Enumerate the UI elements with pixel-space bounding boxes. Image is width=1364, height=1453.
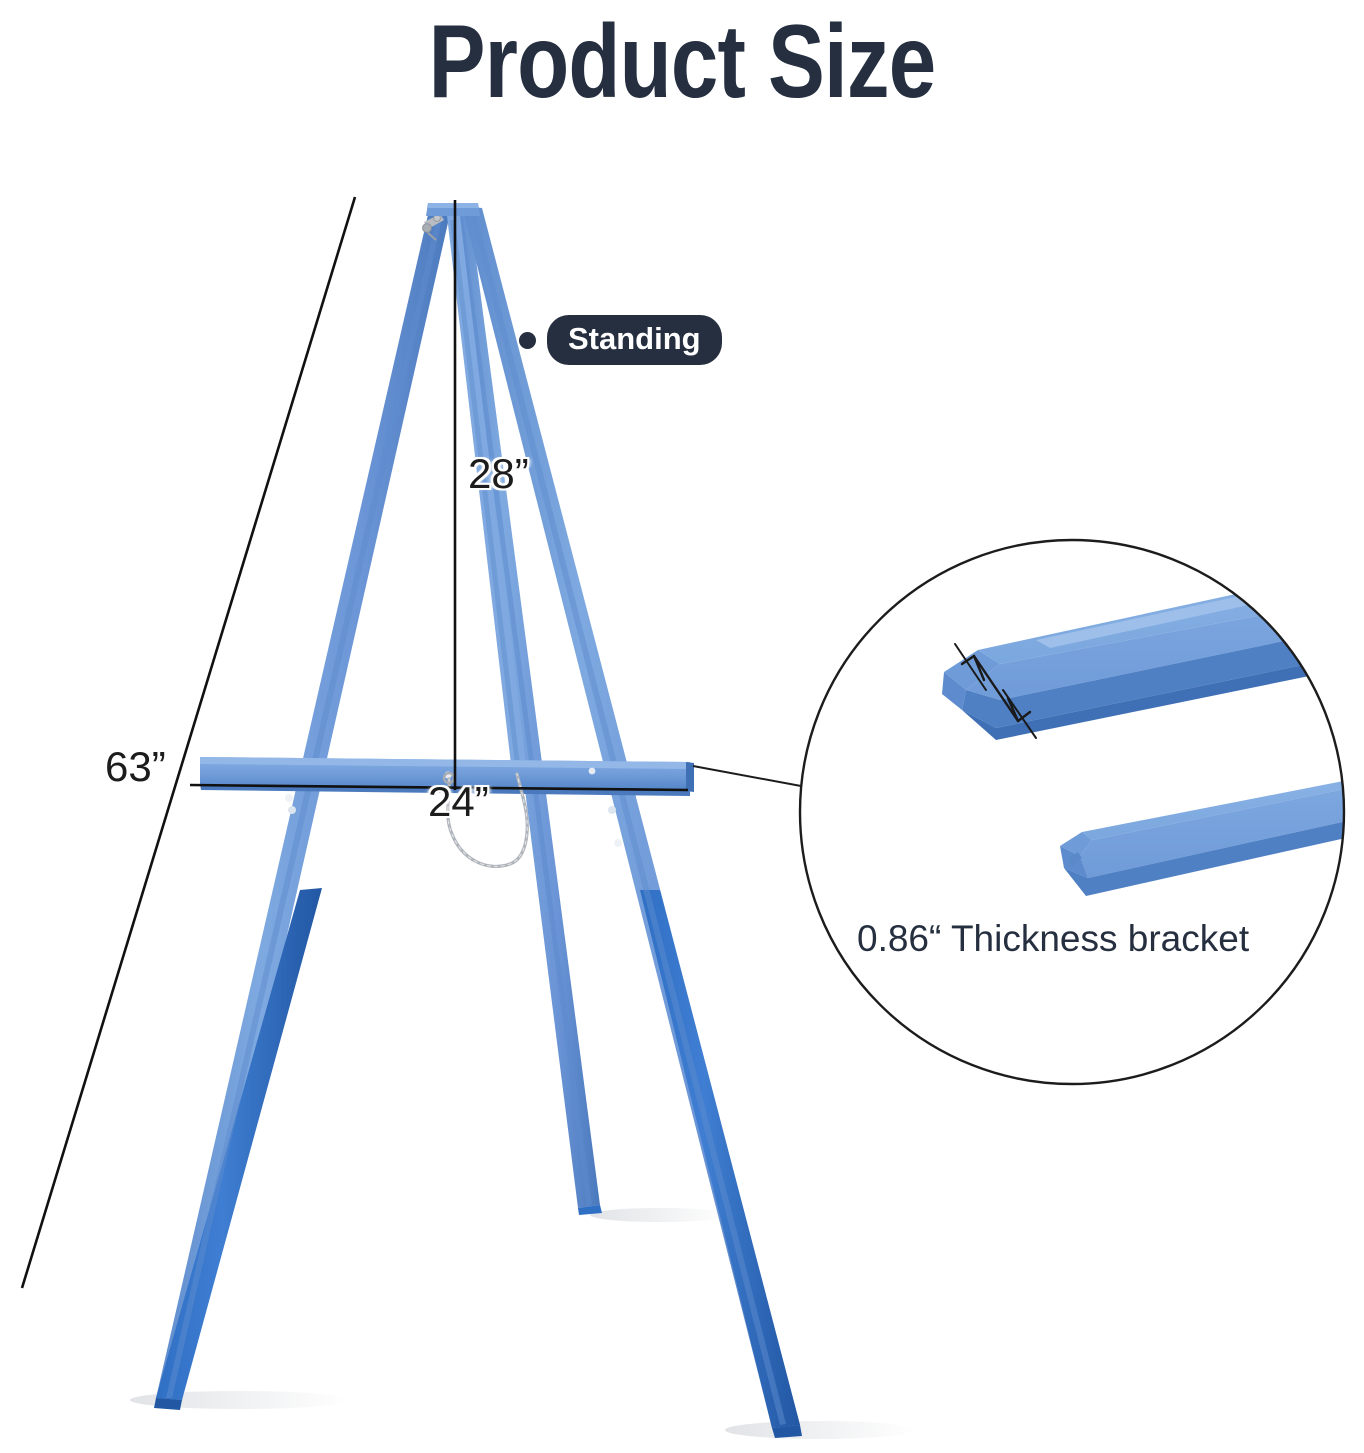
callout-leader-lines — [693, 766, 801, 786]
bracket-thickness-caption: 0.86“ Thickness bracket — [857, 918, 1249, 960]
dimension-label-height-to-tray: 28” — [468, 450, 529, 498]
dimension-label-tray-width: 24” — [428, 778, 489, 826]
easel-left-leg — [154, 205, 452, 1410]
standing-badge: Standing — [519, 315, 722, 365]
easel-right-leg — [462, 206, 802, 1438]
floor-shadows — [130, 1208, 915, 1439]
product-size-infographic: Product Size — [0, 0, 1364, 1453]
measure-line-63 — [22, 197, 355, 1288]
easel-illustration — [0, 0, 1364, 1453]
magnifier-callout — [798, 538, 1364, 1088]
bullet-dot-icon — [519, 332, 536, 349]
standing-badge-label: Standing — [547, 315, 722, 365]
dimension-label-overall-height: 63” — [105, 743, 166, 791]
